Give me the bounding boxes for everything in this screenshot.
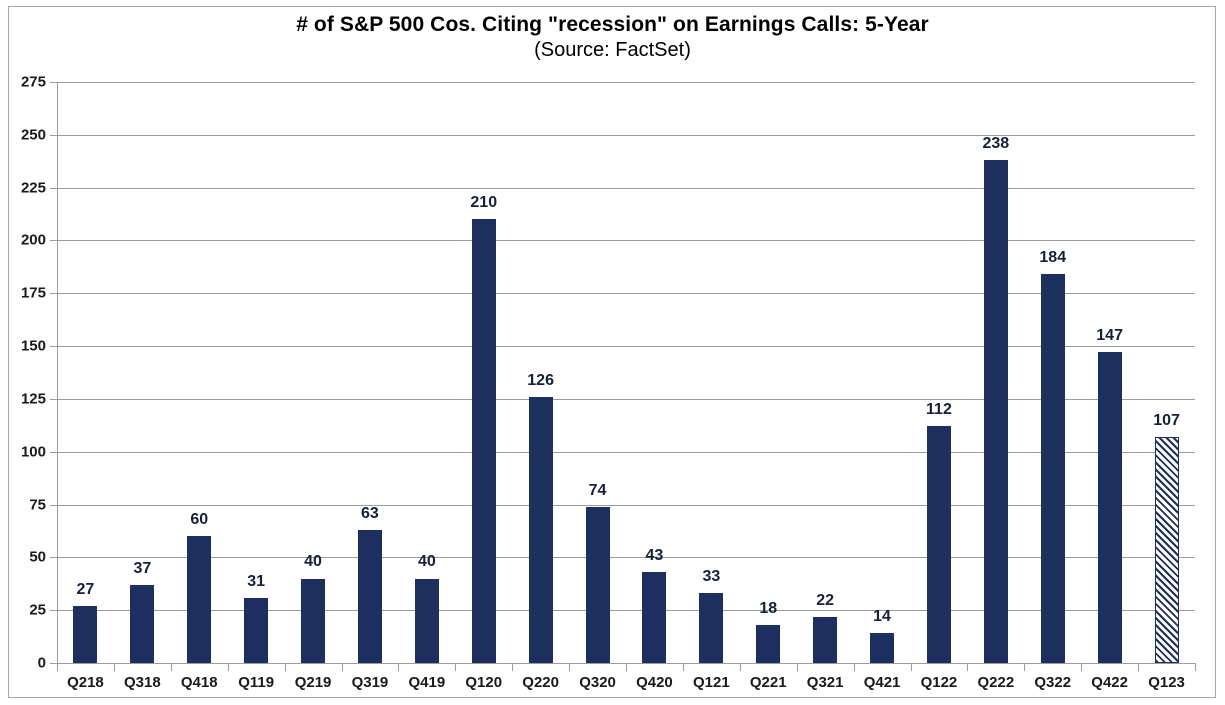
bar-Q221[interactable] bbox=[756, 625, 780, 663]
bar-value-label: 74 bbox=[568, 482, 628, 500]
x-axis-tick bbox=[911, 664, 912, 671]
bar-value-label: 27 bbox=[55, 581, 115, 599]
bar-value-label: 22 bbox=[795, 592, 855, 610]
bar-Q119[interactable] bbox=[244, 598, 268, 663]
x-axis-tick bbox=[342, 664, 343, 671]
x-axis-label-Q322: Q322 bbox=[1023, 674, 1083, 691]
x-axis-label-Q321: Q321 bbox=[795, 674, 855, 691]
chart-title-block: # of S&P 500 Cos. Citing "recession" on … bbox=[0, 12, 1225, 63]
y-axis-tick bbox=[50, 346, 57, 347]
x-axis-label-Q419: Q419 bbox=[397, 674, 457, 691]
bar-value-label: 63 bbox=[340, 505, 400, 523]
bar-Q319[interactable] bbox=[358, 530, 382, 663]
bar-value-label: 126 bbox=[511, 372, 571, 390]
x-axis-tick bbox=[1081, 664, 1082, 671]
x-axis-label-Q319: Q319 bbox=[340, 674, 400, 691]
x-axis-tick bbox=[967, 664, 968, 671]
bar-value-label: 238 bbox=[966, 135, 1026, 153]
y-axis-tick bbox=[50, 610, 57, 611]
x-axis-tick bbox=[455, 664, 456, 671]
bar-value-label: 210 bbox=[454, 194, 514, 212]
x-axis-label-Q120: Q120 bbox=[454, 674, 514, 691]
y-axis-tick bbox=[50, 399, 57, 400]
y-axis-label: 25 bbox=[2, 602, 46, 619]
y-axis-tick bbox=[50, 505, 57, 506]
x-axis-label-Q121: Q121 bbox=[681, 674, 741, 691]
gridline bbox=[57, 293, 1195, 294]
gridline bbox=[57, 610, 1195, 611]
y-axis-label: 75 bbox=[2, 496, 46, 513]
y-axis-label: 275 bbox=[2, 74, 46, 91]
gridline bbox=[57, 399, 1195, 400]
y-axis-label: 200 bbox=[2, 232, 46, 249]
x-axis-label-Q123: Q123 bbox=[1137, 674, 1197, 691]
bar-Q122[interactable] bbox=[927, 426, 951, 663]
gridline bbox=[57, 505, 1195, 506]
bar-Q123[interactable] bbox=[1155, 437, 1179, 663]
gridline bbox=[57, 452, 1195, 453]
bar-value-label: 31 bbox=[226, 573, 286, 591]
gridline bbox=[57, 188, 1195, 189]
y-axis-tick bbox=[50, 663, 57, 664]
y-axis-tick bbox=[50, 557, 57, 558]
x-axis-tick bbox=[57, 664, 58, 671]
x-axis-label-Q219: Q219 bbox=[283, 674, 343, 691]
gridline bbox=[57, 82, 1195, 83]
x-axis-label-Q220: Q220 bbox=[511, 674, 571, 691]
x-axis-tick bbox=[854, 664, 855, 671]
y-axis-tick bbox=[50, 188, 57, 189]
x-axis-tick bbox=[683, 664, 684, 671]
y-axis-tick bbox=[50, 240, 57, 241]
y-axis-label: 125 bbox=[2, 390, 46, 407]
y-axis-label: 250 bbox=[2, 126, 46, 143]
y-axis-label: 150 bbox=[2, 338, 46, 355]
x-axis-tick bbox=[797, 664, 798, 671]
bar-Q318[interactable] bbox=[130, 585, 154, 663]
bar-value-label: 147 bbox=[1080, 327, 1140, 345]
bar-Q121[interactable] bbox=[699, 593, 723, 663]
x-axis-label-Q421: Q421 bbox=[852, 674, 912, 691]
y-axis-label: 175 bbox=[2, 285, 46, 302]
y-axis-label: 50 bbox=[2, 549, 46, 566]
bar-Q421[interactable] bbox=[870, 633, 894, 663]
x-axis-tick bbox=[512, 664, 513, 671]
x-axis-tick bbox=[1024, 664, 1025, 671]
x-axis-tick bbox=[285, 664, 286, 671]
bar-Q321[interactable] bbox=[813, 617, 837, 663]
x-axis-tick bbox=[1138, 664, 1139, 671]
bar-value-label: 112 bbox=[909, 401, 969, 419]
bar-value-label: 14 bbox=[852, 608, 912, 626]
gridline bbox=[57, 240, 1195, 241]
y-axis-label: 225 bbox=[2, 179, 46, 196]
x-axis-label-Q122: Q122 bbox=[909, 674, 969, 691]
bar-Q419[interactable] bbox=[415, 579, 439, 664]
y-axis-label: 100 bbox=[2, 443, 46, 460]
y-axis-tick bbox=[50, 293, 57, 294]
x-axis-label-Q422: Q422 bbox=[1080, 674, 1140, 691]
x-axis-tick bbox=[626, 664, 627, 671]
x-axis-tick bbox=[398, 664, 399, 671]
bar-Q322[interactable] bbox=[1041, 274, 1065, 663]
y-axis-tick bbox=[50, 452, 57, 453]
x-axis-label-Q418: Q418 bbox=[169, 674, 229, 691]
bar-value-label: 18 bbox=[738, 600, 798, 618]
y-axis-tick bbox=[50, 82, 57, 83]
bar-value-label: 184 bbox=[1023, 249, 1083, 267]
bar-value-label: 60 bbox=[169, 511, 229, 529]
bar-Q219[interactable] bbox=[301, 579, 325, 664]
bar-value-label: 40 bbox=[283, 553, 343, 571]
x-axis-label-Q218: Q218 bbox=[55, 674, 115, 691]
gridline bbox=[57, 346, 1195, 347]
bar-Q422[interactable] bbox=[1098, 352, 1122, 663]
x-axis-tick bbox=[1195, 664, 1196, 671]
x-axis-label-Q221: Q221 bbox=[738, 674, 798, 691]
x-axis-label-Q222: Q222 bbox=[966, 674, 1026, 691]
bar-Q220[interactable] bbox=[529, 397, 553, 663]
bar-Q222[interactable] bbox=[984, 160, 1008, 663]
bar-value-label: 107 bbox=[1137, 412, 1197, 430]
bar-value-label: 43 bbox=[624, 547, 684, 565]
bar-Q420[interactable] bbox=[642, 572, 666, 663]
x-axis-tick bbox=[740, 664, 741, 671]
chart-container: # of S&P 500 Cos. Citing "recession" on … bbox=[0, 0, 1225, 705]
bar-Q418[interactable] bbox=[187, 536, 211, 663]
x-axis-label-Q320: Q320 bbox=[568, 674, 628, 691]
bar-Q218[interactable] bbox=[73, 606, 97, 663]
bar-value-label: 37 bbox=[112, 560, 172, 578]
bar-Q120[interactable] bbox=[472, 219, 496, 663]
x-axis-label-Q420: Q420 bbox=[624, 674, 684, 691]
x-axis-label-Q318: Q318 bbox=[112, 674, 172, 691]
x-axis-tick bbox=[171, 664, 172, 671]
bar-value-label: 40 bbox=[397, 553, 457, 571]
bar-Q320[interactable] bbox=[586, 507, 610, 663]
chart-title: # of S&P 500 Cos. Citing "recession" on … bbox=[0, 12, 1225, 38]
x-axis-label-Q119: Q119 bbox=[226, 674, 286, 691]
chart-subtitle-source: (Source: FactSet) bbox=[0, 38, 1225, 63]
x-axis-tick bbox=[569, 664, 570, 671]
y-axis-tick bbox=[50, 135, 57, 136]
x-axis-tick bbox=[228, 664, 229, 671]
x-axis-tick bbox=[114, 664, 115, 671]
y-axis-label: 0 bbox=[2, 655, 46, 672]
bar-value-label: 33 bbox=[681, 568, 741, 586]
